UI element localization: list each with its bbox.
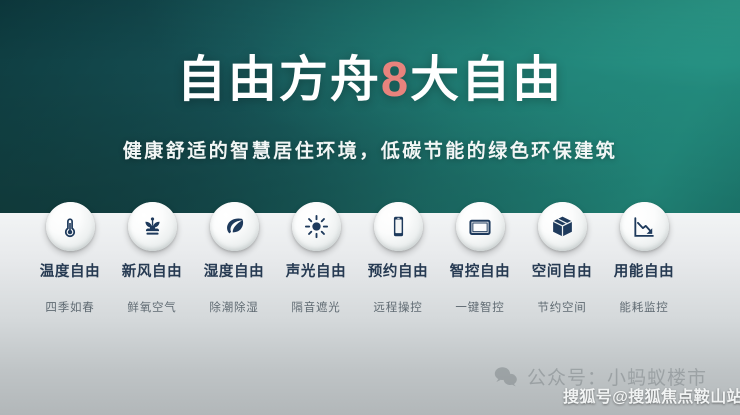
feature-title: 新风自由 [111,264,193,281]
feature-title: 智控自由 [439,264,521,281]
feature-subtitle: 四季如春 [29,301,111,315]
title-suffix: 大自由 [410,53,563,107]
feature-icon-circle [210,202,259,251]
feature-title: 空间自由 [521,264,603,281]
plant-sprout-icon [140,214,165,239]
feature-subtitle: 能耗监控 [603,301,685,315]
box-cube-icon [550,214,575,239]
chart-down-icon [631,214,657,240]
feature-title: 预约自由 [357,264,439,281]
feature-icon-circle [620,202,669,251]
feature-item-humidity[interactable]: 湿度自由 除潮除湿 [193,202,275,315]
feature-subtitle: 除潮除湿 [193,301,275,315]
feature-icon-circle [538,202,587,251]
monitor-icon [467,214,493,240]
feature-icon-circle [128,202,177,251]
title-prefix: 自由方舟 [177,53,381,107]
feature-item-energy[interactable]: 用能自由 能耗监控 [603,202,685,315]
feature-subtitle: 鲜氧空气 [111,301,193,315]
smartphone-icon [386,214,411,239]
title-highlight-number: 8 [381,53,410,107]
promo-banner: 自由方舟8大自由 健康舒适的智慧居住环境，低碳节能的绿色环保建筑 温度自由 四季… [0,0,740,415]
feature-item-fresh-air[interactable]: 新风自由 鲜氧空气 [111,202,193,315]
feature-icon-circle [374,202,423,251]
thermometer-icon [58,215,82,239]
feature-item-sound-light[interactable]: 声光自由 隔音遮光 [275,202,357,315]
feature-title: 用能自由 [603,264,685,281]
wechat-watermark-text: 公众号：小蚂蚁楼市 [527,368,707,390]
sohu-watermark: 搜狐号@搜狐焦点鞍山站 [563,388,740,407]
feature-subtitle: 节约空间 [521,301,603,315]
page-subtitle: 健康舒适的智慧居住环境，低碳节能的绿色环保建筑 [0,140,740,164]
feature-item-reservation[interactable]: 预约自由 远程操控 [357,202,439,315]
feature-item-temperature[interactable]: 温度自由 四季如春 [29,202,111,315]
feature-icon-circle [292,202,341,251]
feature-subtitle: 隔音遮光 [275,301,357,315]
page-title: 自由方舟8大自由 [0,51,740,109]
feature-icon-circle [46,202,95,251]
feature-subtitle: 一键智控 [439,301,521,315]
wechat-icon [494,366,518,392]
feature-subtitle: 远程操控 [357,301,439,315]
feature-item-space[interactable]: 空间自由 节约空间 [521,202,603,315]
feature-icon-circle [456,202,505,251]
feature-title: 湿度自由 [193,264,275,281]
feature-title: 温度自由 [29,264,111,281]
leaf-icon [222,214,247,239]
feature-title: 声光自由 [275,264,357,281]
feature-item-smart-control[interactable]: 智控自由 一键智控 [439,202,521,315]
sun-icon [304,214,329,239]
